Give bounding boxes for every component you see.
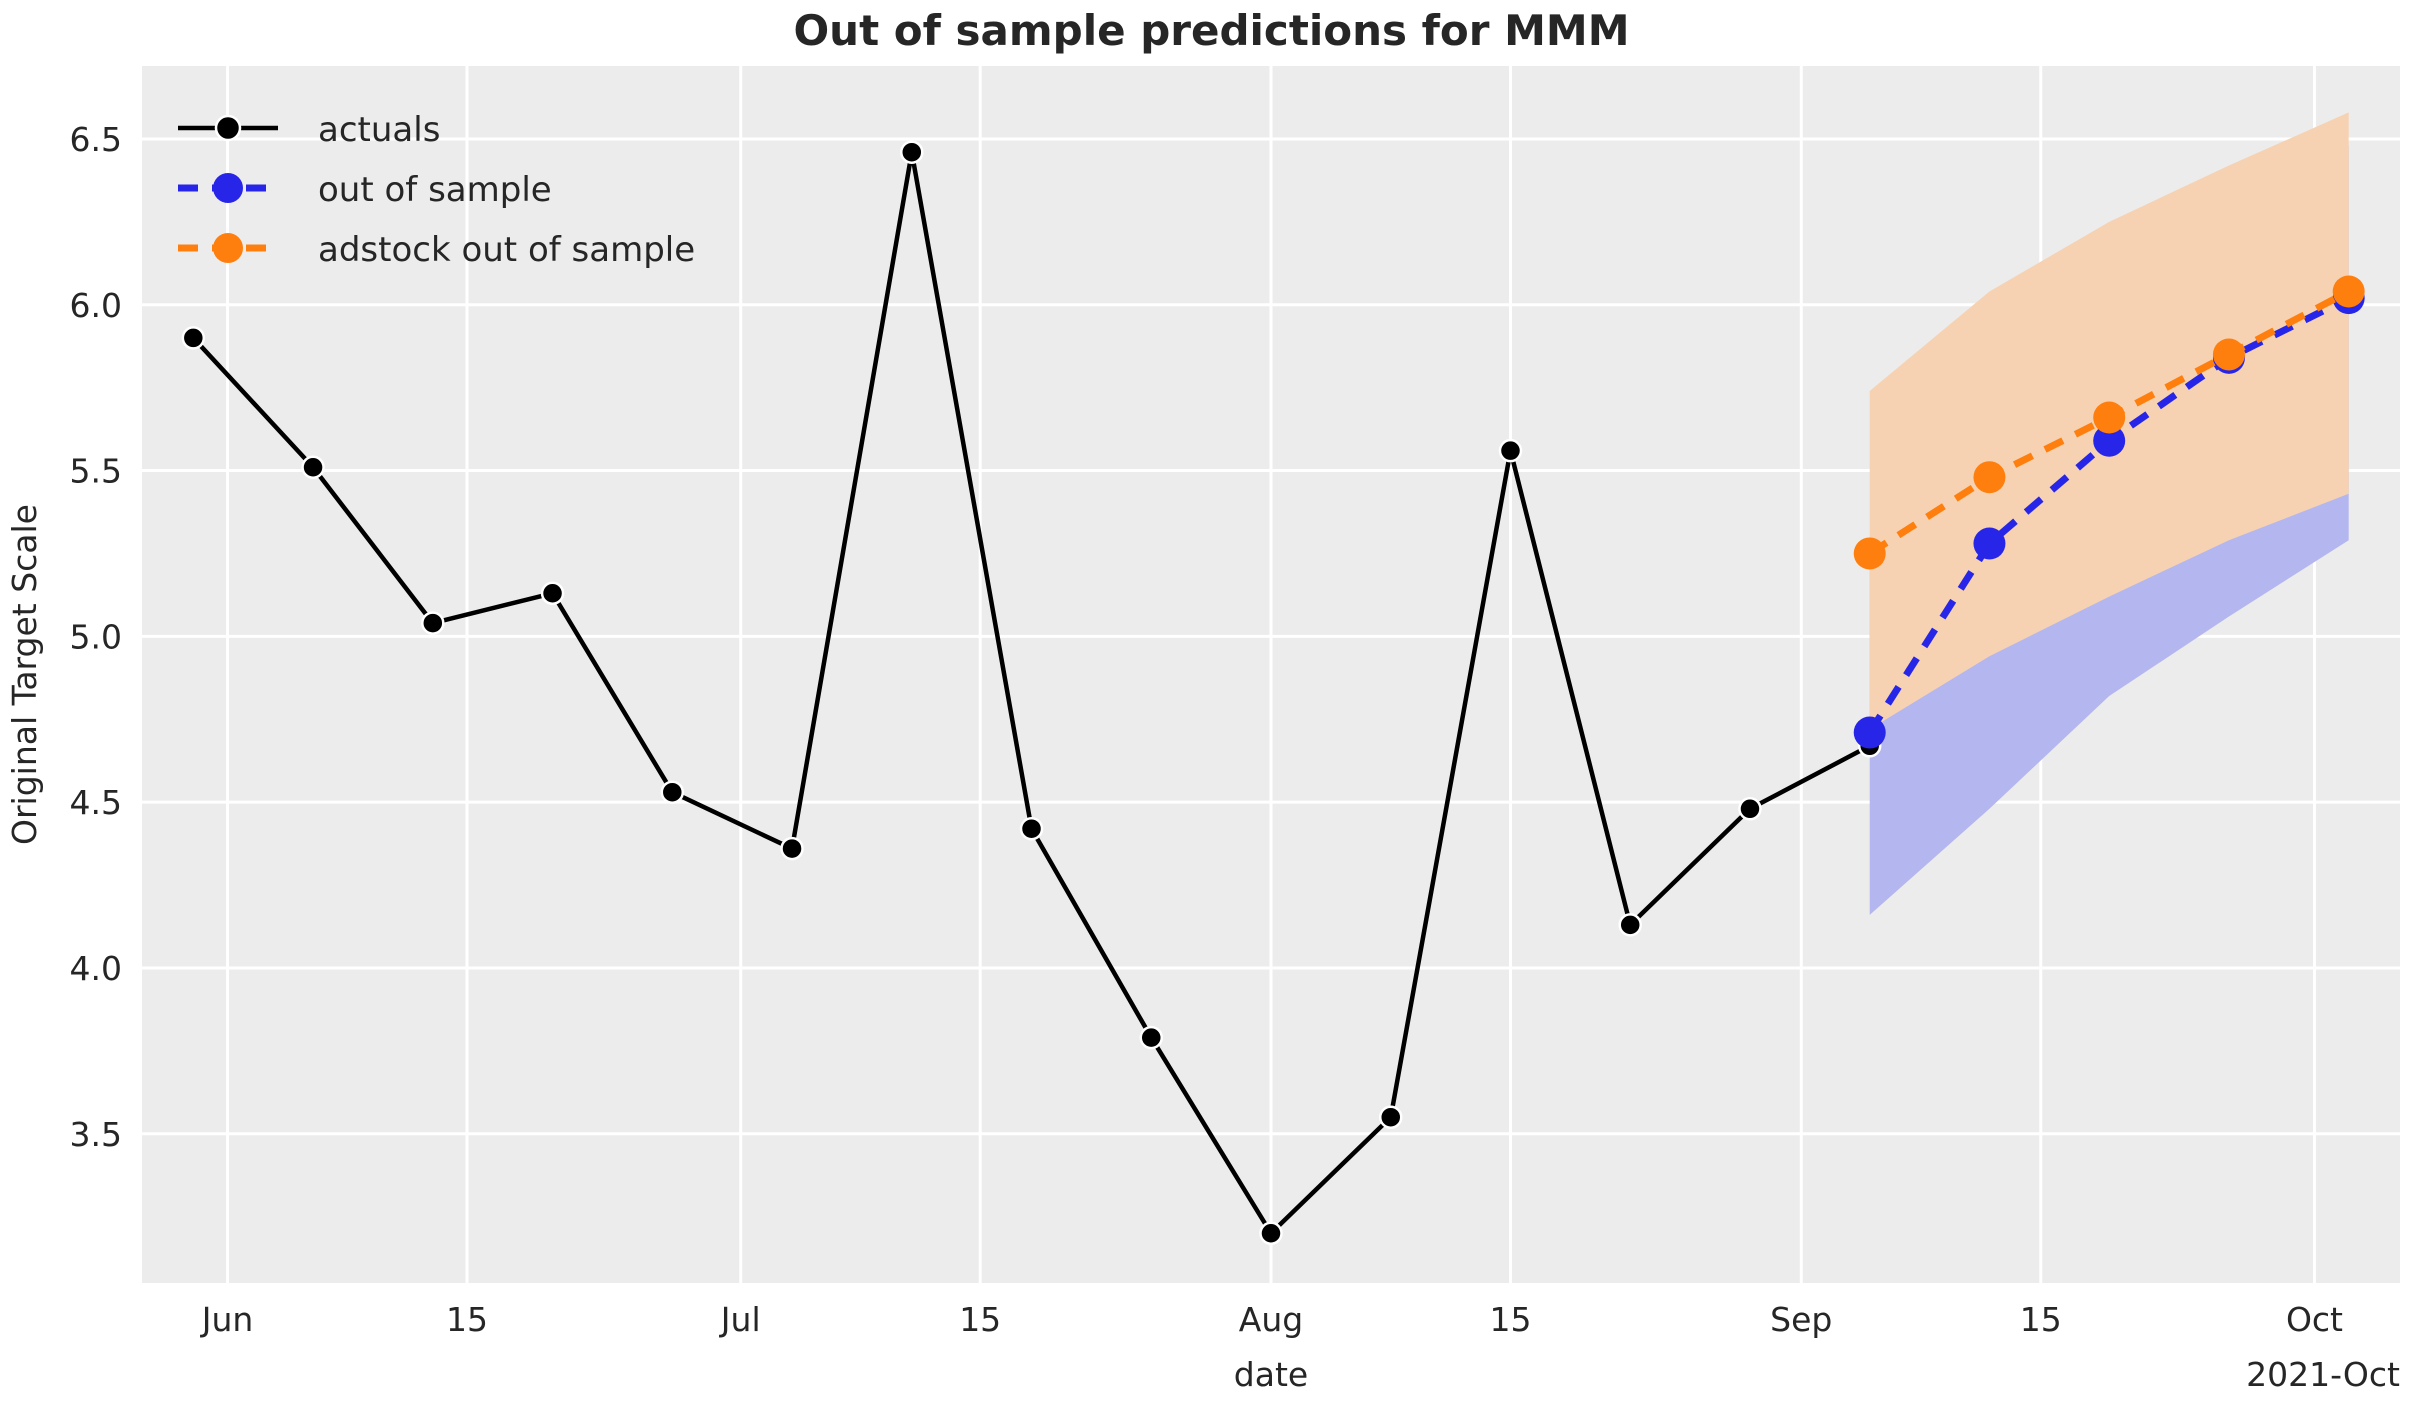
x-tick-label: Sep: [1770, 1300, 1832, 1339]
legend-label: adstock out of sample: [318, 230, 695, 270]
x-tick-label: Jul: [719, 1300, 761, 1339]
data-point: [542, 583, 563, 604]
data-point: [662, 782, 683, 803]
data-point: [1973, 528, 2005, 560]
y-tick-label: 6.5: [70, 120, 122, 159]
data-point: [1380, 1107, 1401, 1128]
data-point: [2213, 338, 2245, 370]
data-point: [2093, 402, 2125, 434]
data-point: [1261, 1223, 1282, 1244]
data-point: [1854, 537, 1886, 569]
y-tick-label: 6.0: [70, 286, 122, 325]
y-tick-label: 3.5: [70, 1115, 122, 1154]
chart-plot-area: 3.54.04.55.05.56.06.5 Jun15Jul15Aug15Sep…: [0, 0, 2423, 1423]
y-tick-label: 4.0: [70, 949, 122, 988]
data-point: [2333, 275, 2365, 307]
x-axis-tick-labels: Jun15Jul15Aug15Sep15Oct: [200, 1300, 2343, 1339]
data-point: [1500, 440, 1521, 461]
legend-marker-icon: [216, 116, 240, 140]
data-point: [1973, 461, 2005, 493]
y-axis-title: Original Target Scale: [5, 504, 44, 845]
x-tick-label: Jun: [200, 1300, 254, 1339]
x-tick-label: 15: [959, 1300, 1001, 1339]
x-tick-label: Oct: [2286, 1300, 2343, 1339]
legend-marker-icon: [213, 173, 243, 203]
x-tick-label: 15: [2020, 1300, 2062, 1339]
x-tick-label: 15: [446, 1300, 488, 1339]
y-tick-label: 5.0: [70, 617, 122, 656]
x-tick-label: Aug: [1239, 1300, 1303, 1339]
data-point: [901, 142, 922, 163]
legend-marker-icon: [213, 233, 243, 263]
y-tick-label: 5.5: [70, 452, 122, 491]
legend-label: actuals: [318, 110, 440, 150]
data-point: [1854, 717, 1886, 749]
data-point: [303, 457, 324, 478]
figure-canvas: Out of sample predictions for MMM 3.54.0…: [0, 0, 2423, 1423]
x-axis-offset-label: 2021-Oct: [2246, 1355, 2400, 1394]
x-tick-label: 15: [1489, 1300, 1531, 1339]
x-axis-title: date: [1234, 1355, 1308, 1394]
y-tick-label: 4.5: [70, 783, 122, 822]
data-point: [183, 327, 204, 348]
legend-label: out of sample: [318, 170, 552, 210]
data-point: [1739, 798, 1760, 819]
data-point: [1141, 1027, 1162, 1048]
data-point: [422, 613, 443, 634]
data-point: [1620, 914, 1641, 935]
data-point: [782, 838, 803, 859]
data-point: [1021, 818, 1042, 839]
y-axis-tick-labels: 3.54.04.55.05.56.06.5: [70, 120, 122, 1154]
